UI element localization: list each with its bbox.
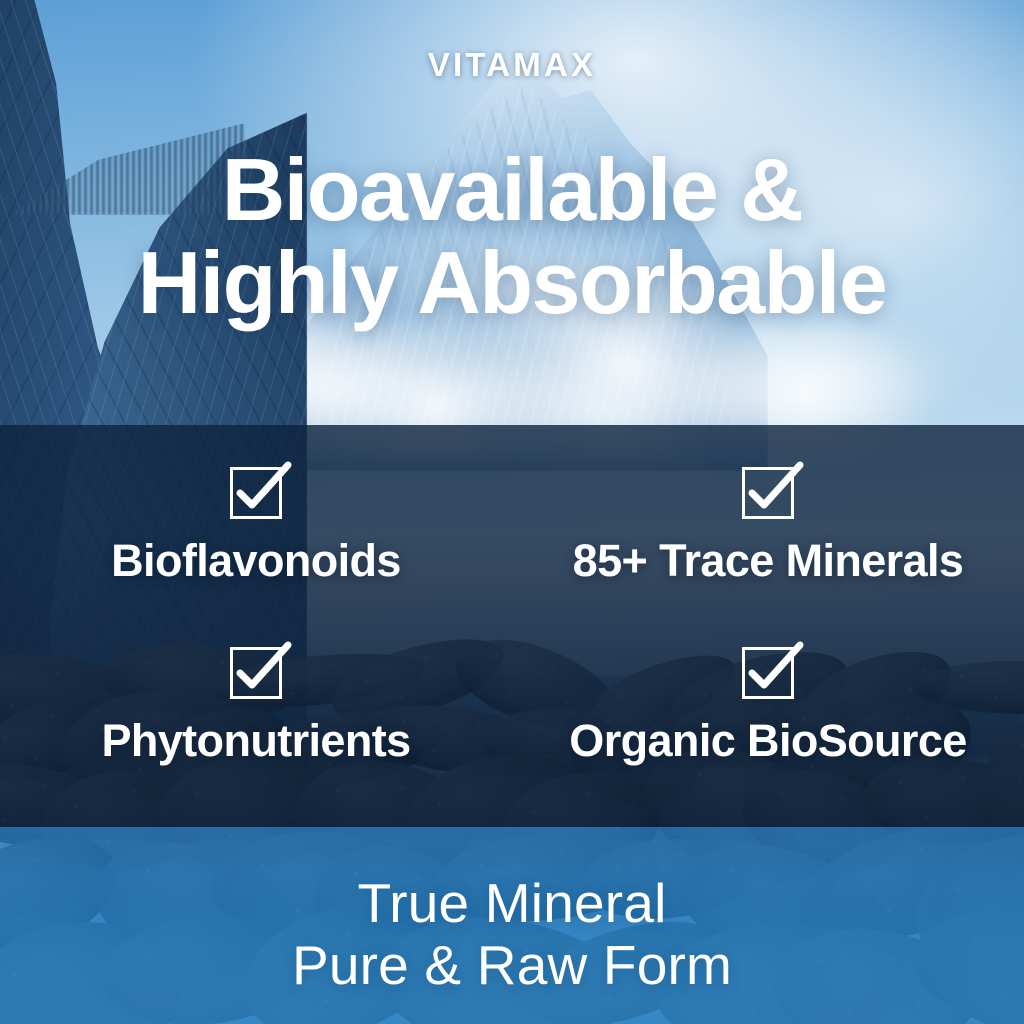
feature-item-trace-minerals: 85+ Trace Minerals (573, 455, 964, 587)
footer-line-2: Pure & Raw Form (0, 934, 1024, 996)
headline-line-1: Bioavailable & (0, 143, 1024, 236)
feature-item-bioflavonoids: Bioflavonoids (111, 455, 401, 587)
feature-item-phytonutrients: Phytonutrients (101, 635, 410, 767)
footer-tagline: True Mineral Pure & Raw Form (0, 872, 1024, 996)
brand-wordmark: VITAMAX (0, 46, 1024, 84)
feature-label: Organic BioSource (569, 715, 966, 767)
feature-list: Bioflavonoids 85+ Trace Minerals (0, 455, 1024, 815)
checkbox-checked-icon (230, 467, 282, 519)
headline-line-2: Highly Absorbable (0, 236, 1024, 329)
footer-line-1: True Mineral (0, 872, 1024, 934)
feature-item-organic-biosource: Organic BioSource (569, 635, 966, 767)
poster-content: VITAMAX Bioavailable & Highly Absorbable… (0, 0, 1024, 1024)
checkbox-checked-icon (230, 647, 282, 699)
checkbox-checked-icon (742, 647, 794, 699)
feature-label: Phytonutrients (101, 715, 410, 767)
headline: Bioavailable & Highly Absorbable (0, 143, 1024, 330)
feature-label: 85+ Trace Minerals (573, 535, 964, 587)
promo-poster: VITAMAX Bioavailable & Highly Absorbable… (0, 0, 1024, 1024)
feature-label: Bioflavonoids (111, 535, 401, 587)
checkbox-checked-icon (742, 467, 794, 519)
